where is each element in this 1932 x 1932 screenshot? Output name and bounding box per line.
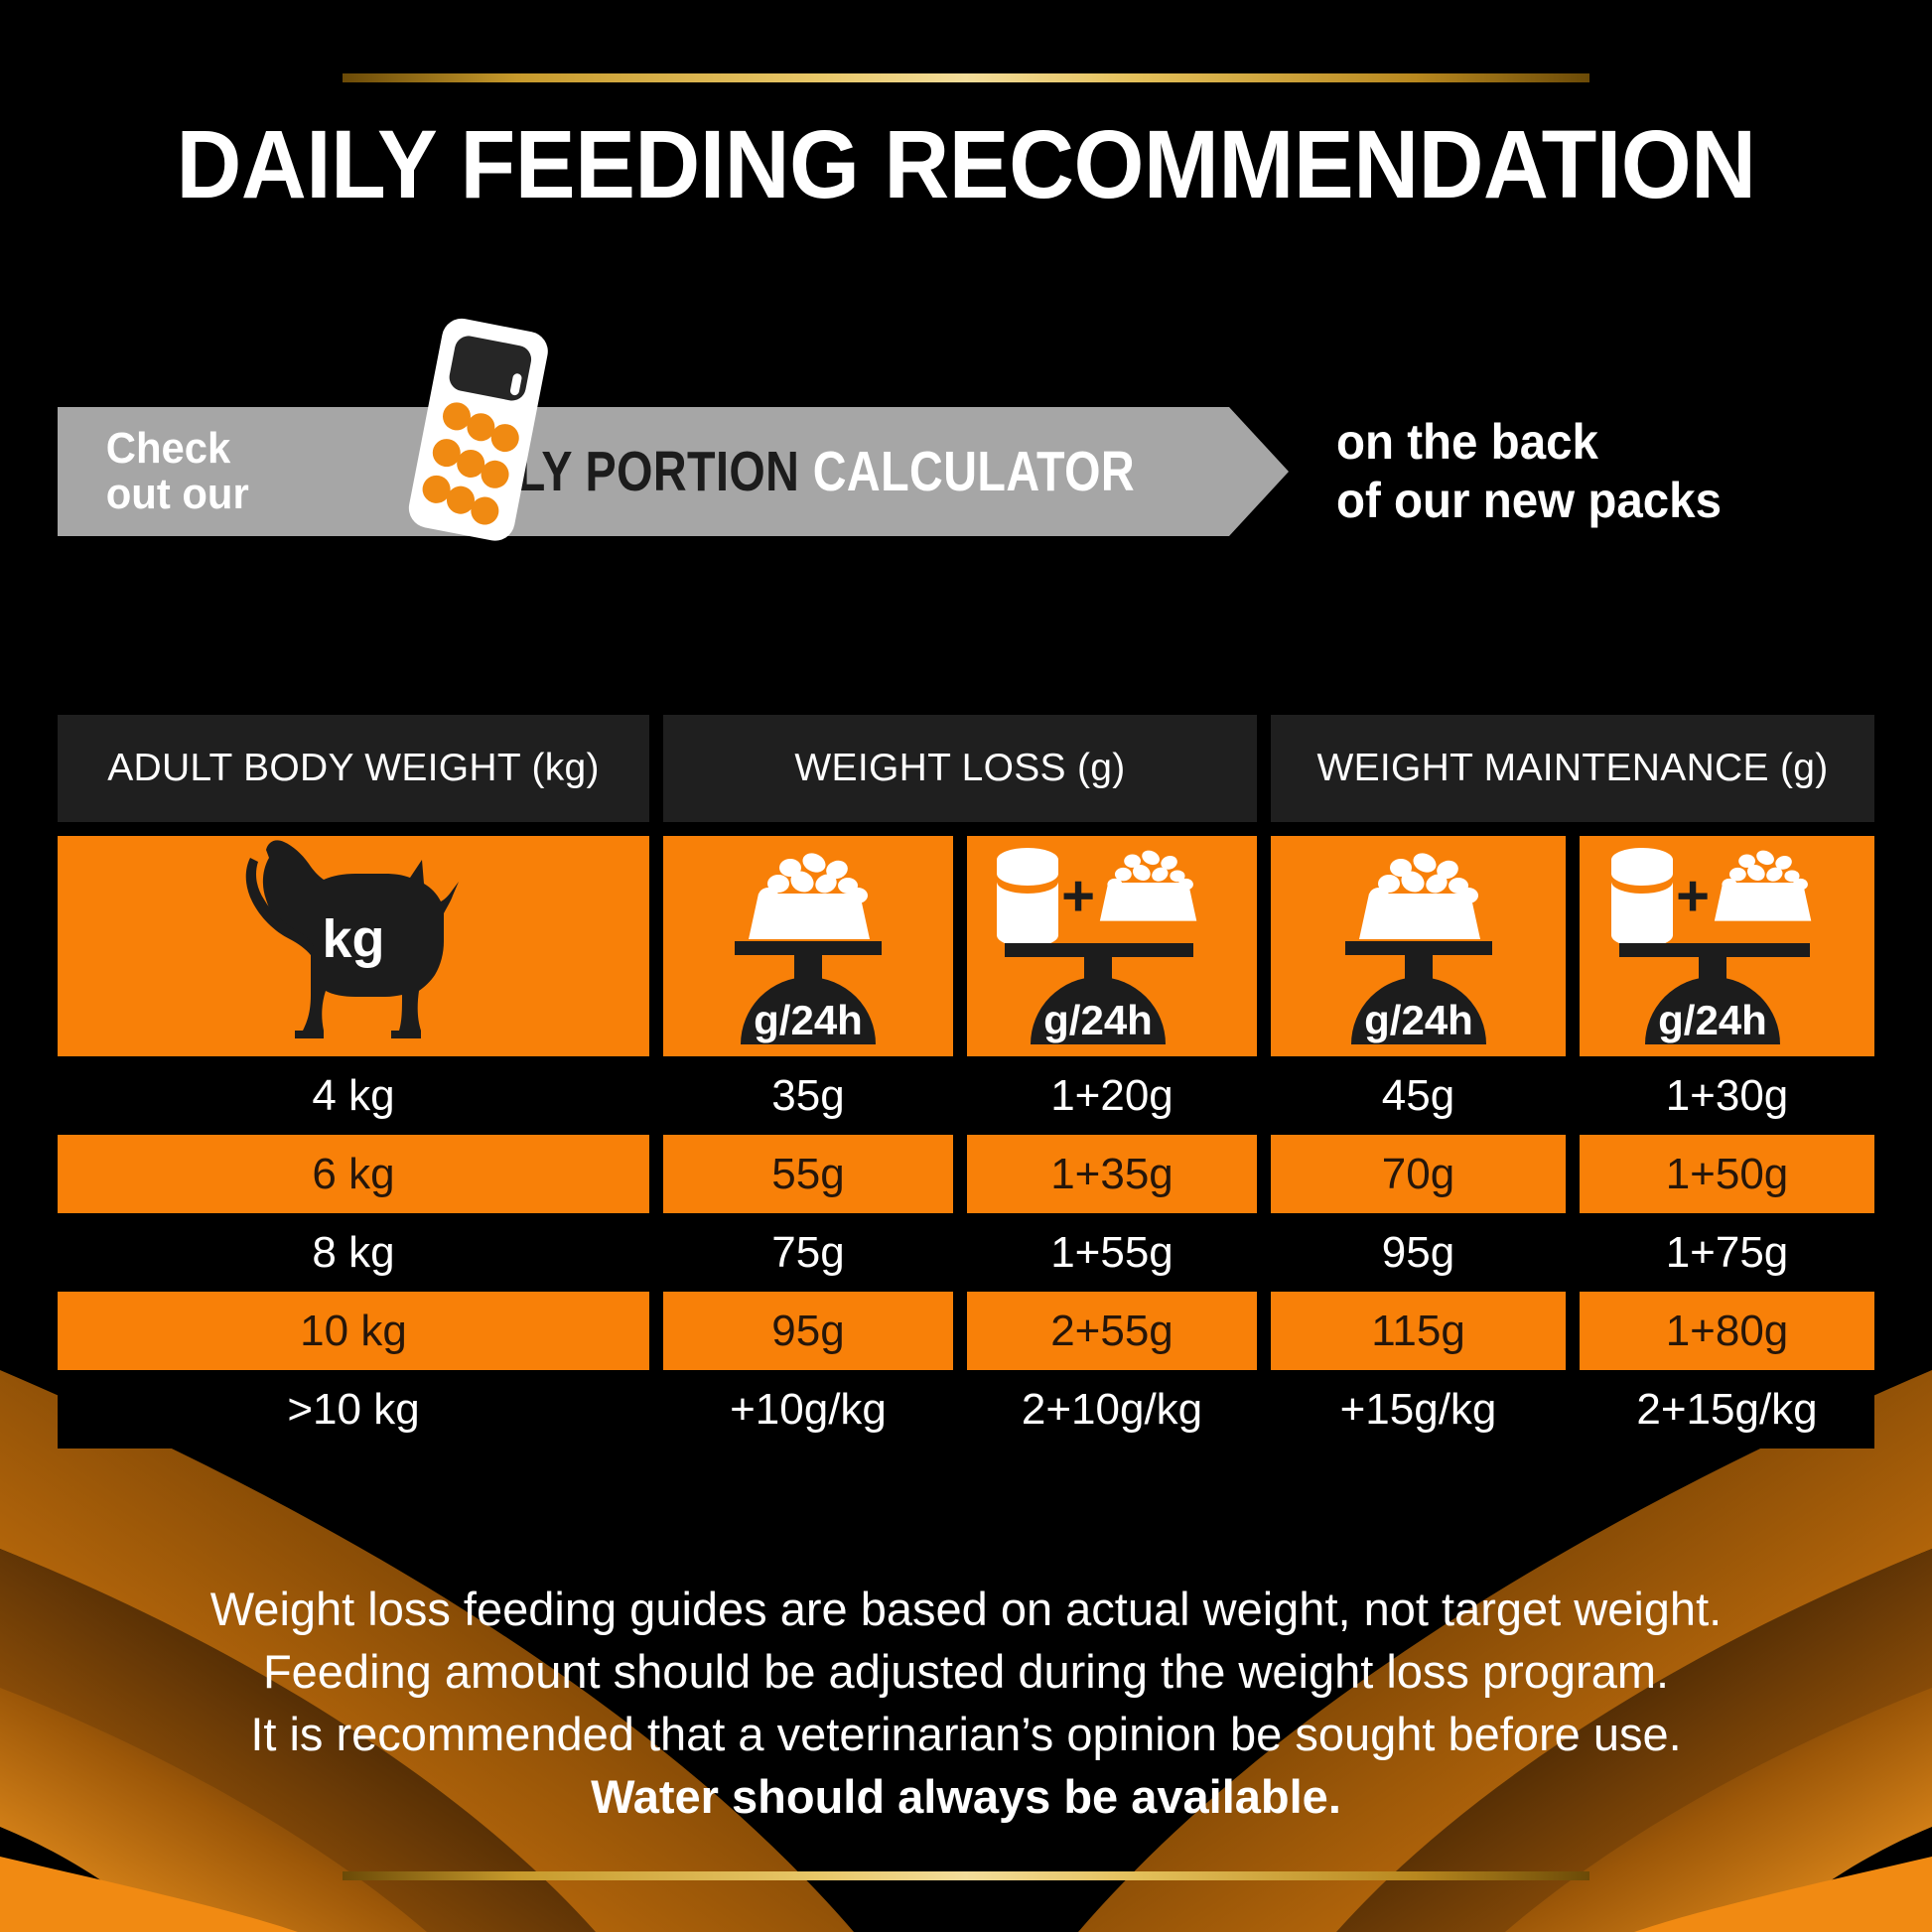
scale-g24h-label: g/24h [1364,997,1473,1043]
promo-right-text: on the back of our new packs [1336,413,1722,530]
column-header-weight-loss: WEIGHT LOSS (g) [663,715,1257,822]
cell-body-weight: 8 kg [58,1213,649,1292]
cat-silhouette-icon: kg [58,836,649,1056]
scale-g24h-label: g/24h [1658,997,1767,1043]
table-icon-row: kg g/24h [58,836,1874,1056]
column-header-weight-maintenance: WEIGHT MAINTENANCE (g) [1271,715,1874,822]
cell-loss-wet: 1+55g [967,1213,1257,1292]
promo-gray-arrow-bar: Check out our DAILY PORTION CALCULATOR [58,407,1289,536]
promo-check-line2: out our [106,472,286,517]
promo-right-line1: on the back [1336,413,1722,472]
promo-words-light: CALCULATOR [813,440,1135,503]
note-line-2: Feeding amount should be adjusted during… [0,1641,1932,1704]
table-row: 10 kg 95g 2+55g 115g 1+80g [58,1292,1874,1370]
cell-body-weight: >10 kg [58,1370,649,1449]
scale-bowl-cell-maintenance: g/24h [1271,836,1566,1056]
table-row: 4 kg 35g 1+20g 45g 1+30g [58,1056,1874,1135]
scale-bowl-cell-loss: g/24h [663,836,953,1056]
scale-g24h-label: g/24h [754,997,863,1043]
cell-loss-dry: 35g [663,1056,953,1135]
can-icon [1611,848,1673,947]
cell-loss-wet: 2+10g/kg [967,1370,1257,1449]
top-gold-divider [343,73,1589,82]
can-icon [997,848,1058,947]
note-line-4: Water should always be available. [0,1766,1932,1829]
table-header-row: ADULT BODY WEIGHT (kg) WEIGHT LOSS (g) W… [58,715,1874,822]
cell-maintenance-dry: 45g [1271,1056,1566,1135]
page-title: DAILY FEEDING RECOMMENDATION [58,109,1873,220]
cell-maintenance-wet: 1+80g [1580,1292,1874,1370]
footer-note: Weight loss feeding guides are based on … [0,1579,1932,1829]
cell-body-weight: 6 kg [58,1135,649,1213]
cat-kg-label: kg [322,909,384,969]
cell-loss-wet: 2+55g [967,1292,1257,1370]
bottom-gold-divider [343,1871,1589,1880]
calculator-icon [385,310,574,548]
scale-bowl-icon: g/24h [1271,836,1566,1056]
note-line-3: It is recommended that a veterinarian’s … [0,1704,1932,1766]
scale-can-plus-bowl-icon: + g/24h [1580,836,1874,1056]
cell-maintenance-dry: 95g [1271,1213,1566,1292]
promo-right-line2: of our new packs [1336,472,1722,530]
cell-maintenance-wet: 1+30g [1580,1056,1874,1135]
cell-maintenance-wet: 2+15g/kg [1580,1370,1874,1449]
cell-loss-dry: 55g [663,1135,953,1213]
table-row: 6 kg 55g 1+35g 70g 1+50g [58,1135,1874,1213]
scale-can-plus-bowl-icon: + g/24h [967,836,1257,1056]
cell-loss-dry: 95g [663,1292,953,1370]
cell-maintenance-dry: +15g/kg [1271,1370,1566,1449]
scale-can-bowl-cell-loss: + g/24h [967,836,1257,1056]
cat-weight-cell: kg [58,836,649,1056]
table-row: >10 kg +10g/kg 2+10g/kg +15g/kg 2+15g/kg [58,1370,1874,1449]
cell-loss-dry: +10g/kg [663,1370,953,1449]
cell-maintenance-wet: 1+50g [1580,1135,1874,1213]
promo-check-text: Check out our [106,426,286,517]
plus-sign: + [1676,864,1710,928]
promo-banner: Check out our DAILY PORTION CALCULATOR o… [58,407,1874,546]
note-line-1: Weight loss feeding guides are based on … [0,1579,1932,1641]
cell-loss-wet: 1+35g [967,1135,1257,1213]
scale-bowl-icon: g/24h [663,836,953,1056]
column-header-body-weight: ADULT BODY WEIGHT (kg) [58,715,649,822]
cell-loss-dry: 75g [663,1213,953,1292]
feeding-table: ADULT BODY WEIGHT (kg) WEIGHT LOSS (g) W… [58,715,1874,1449]
scale-g24h-label: g/24h [1043,997,1153,1043]
cell-maintenance-wet: 1+75g [1580,1213,1874,1292]
plus-sign: + [1061,864,1095,928]
cell-body-weight: 10 kg [58,1292,649,1370]
scale-can-bowl-cell-maintenance: + g/24h [1580,836,1874,1056]
table-row: 8 kg 75g 1+55g 95g 1+75g [58,1213,1874,1292]
cell-maintenance-dry: 115g [1271,1292,1566,1370]
cell-loss-wet: 1+20g [967,1056,1257,1135]
cell-maintenance-dry: 70g [1271,1135,1566,1213]
promo-check-line1: Check [106,426,286,472]
cell-body-weight: 4 kg [58,1056,649,1135]
